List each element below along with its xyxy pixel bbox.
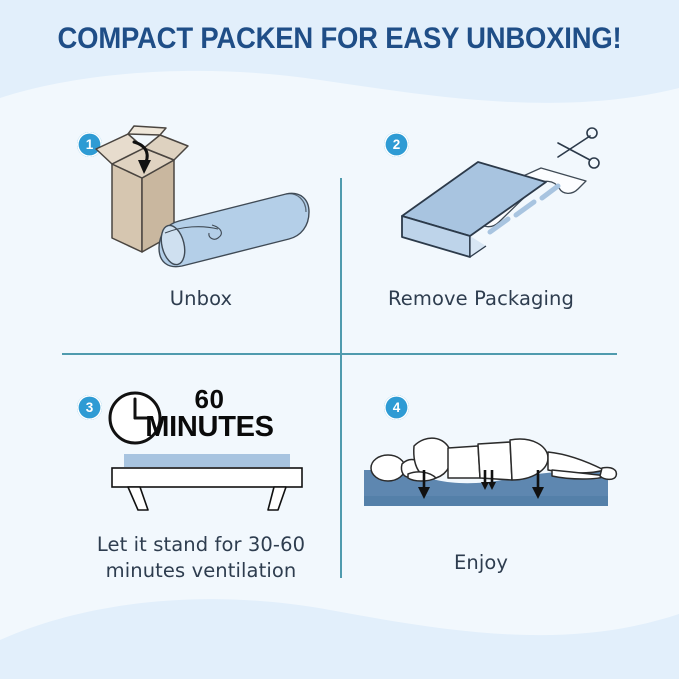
step-caption-3-line-1: Let it stand for 30-60	[97, 533, 305, 556]
divider-vertical	[340, 178, 342, 578]
timer-value: 60	[122, 386, 297, 412]
step-card-4: 4	[342, 380, 620, 605]
step-card-2: 2	[342, 118, 620, 353]
enjoy-illustration	[352, 408, 620, 533]
remove-packaging-illustration	[386, 124, 606, 279]
page-title: COMPACT PACKEN FOR EASY UNBOXING!	[24, 22, 655, 56]
step-caption-3-line-2: minutes ventilation	[106, 559, 297, 582]
step-caption-4: Enjoy	[342, 550, 620, 576]
timer-label: 60 MINUTES	[122, 386, 297, 443]
step-card-1: 1	[62, 118, 340, 353]
infographic-canvas: COMPACT PACKEN FOR EASY UNBOXING! 1	[0, 0, 679, 679]
unbox-illustration	[90, 122, 320, 282]
timer-unit: MINUTES	[122, 412, 297, 443]
step-caption-2: Remove Packaging	[342, 286, 620, 312]
step-caption-3: Let it stand for 30-60 minutes ventilati…	[62, 532, 340, 584]
step-caption-1: Unbox	[62, 286, 340, 312]
step-card-3: 3 60 MINUTES Le	[62, 380, 340, 605]
